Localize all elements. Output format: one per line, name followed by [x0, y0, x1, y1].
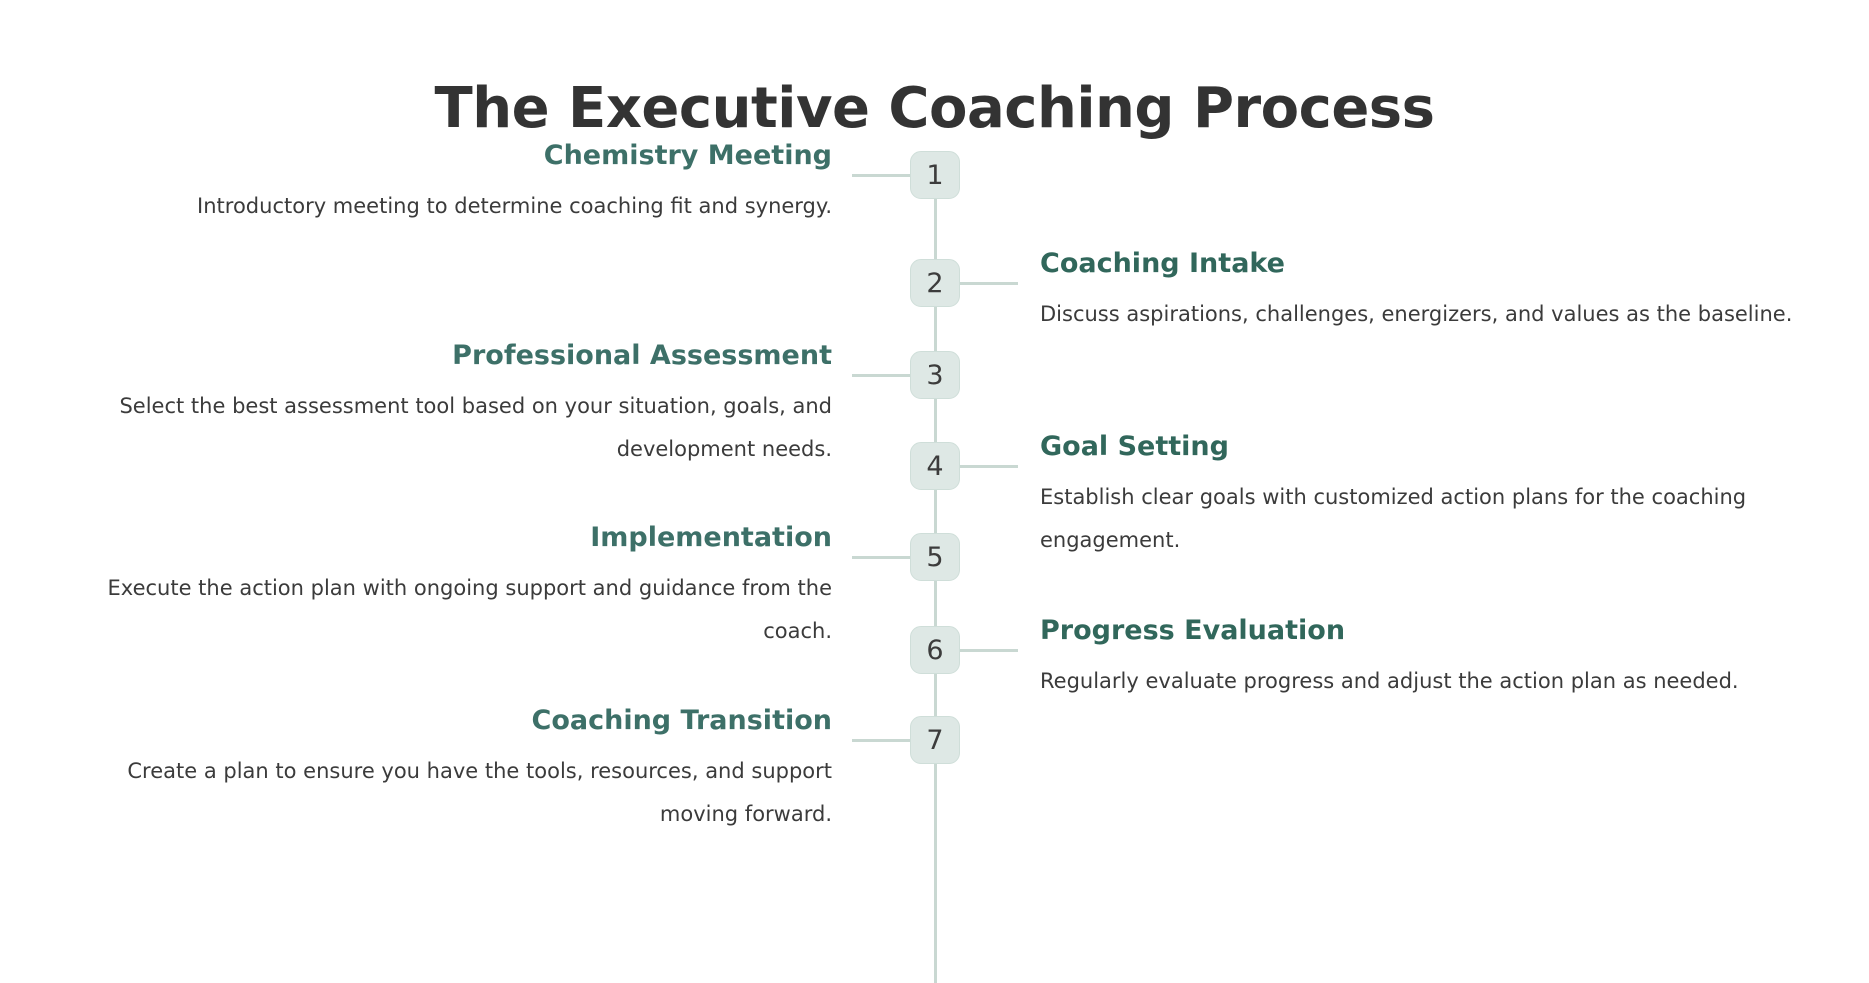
step-description: Introductory meeting to determine coachi…: [60, 185, 832, 228]
step-number-badge[interactable]: 7: [910, 716, 960, 764]
step-description: Establish clear goals with customized ac…: [1040, 476, 1830, 562]
step-title: Chemistry Meeting: [60, 139, 832, 173]
step-description: Discuss aspirations, challenges, energiz…: [1040, 293, 1830, 336]
coaching-process-infographic: The Executive Coaching Process 1Chemistr…: [0, 0, 1869, 983]
step-text-block: Progress EvaluationRegularly evaluate pr…: [1040, 614, 1830, 703]
step-number-badge[interactable]: 6: [910, 626, 960, 674]
step-number-badge[interactable]: 4: [910, 442, 960, 490]
step-text-block: Goal SettingEstablish clear goals with c…: [1040, 430, 1830, 562]
step-connector-line: [852, 739, 912, 742]
step-description: Select the best assessment tool based on…: [60, 385, 832, 471]
step-text-block: Coaching IntakeDiscuss aspirations, chal…: [1040, 247, 1830, 336]
step-title: Professional Assessment: [60, 339, 832, 373]
step-connector-line: [958, 649, 1018, 652]
step-description: Create a plan to ensure you have the too…: [60, 750, 832, 836]
step-title: Implementation: [60, 521, 832, 555]
step-number-badge[interactable]: 1: [910, 151, 960, 199]
step-connector-line: [958, 282, 1018, 285]
step-number-badge[interactable]: 5: [910, 533, 960, 581]
step-title: Coaching Transition: [60, 704, 832, 738]
step-description: Execute the action plan with ongoing sup…: [60, 567, 832, 653]
process-timeline: 1Chemistry MeetingIntroductory meeting t…: [0, 150, 1869, 983]
step-number-badge[interactable]: 3: [910, 351, 960, 399]
step-title: Goal Setting: [1040, 430, 1830, 464]
step-text-block: Professional AssessmentSelect the best a…: [60, 339, 832, 471]
step-connector-line: [852, 556, 912, 559]
step-connector-line: [852, 374, 912, 377]
step-title: Progress Evaluation: [1040, 614, 1830, 648]
step-title: Coaching Intake: [1040, 247, 1830, 281]
step-text-block: Chemistry MeetingIntroductory meeting to…: [60, 139, 832, 228]
step-connector-line: [958, 465, 1018, 468]
step-text-block: ImplementationExecute the action plan wi…: [60, 521, 832, 653]
step-number-badge[interactable]: 2: [910, 259, 960, 307]
step-text-block: Coaching TransitionCreate a plan to ensu…: [60, 704, 832, 836]
step-connector-line: [852, 174, 912, 177]
step-description: Regularly evaluate progress and adjust t…: [1040, 660, 1830, 703]
page-title: The Executive Coaching Process: [0, 76, 1869, 141]
